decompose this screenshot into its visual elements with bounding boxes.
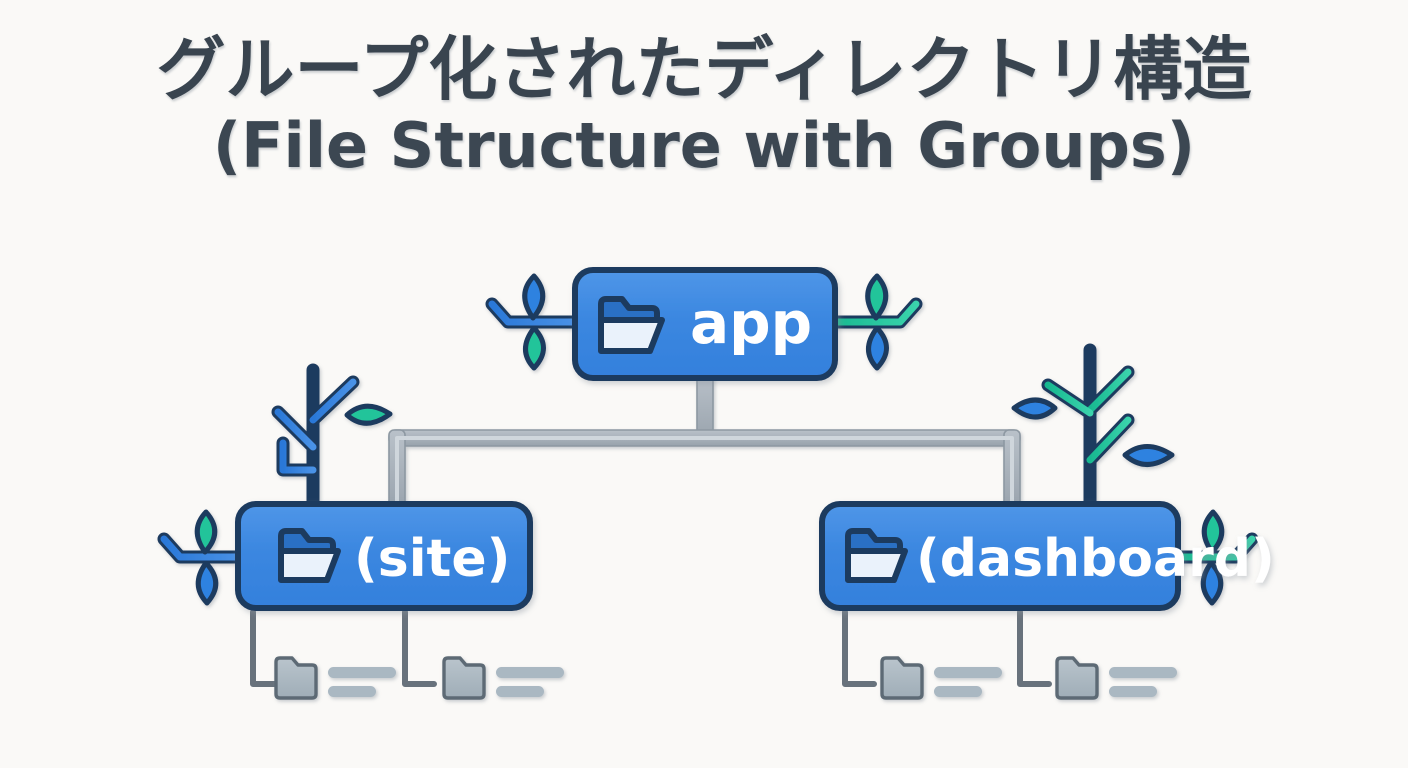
leaf-icon — [1014, 400, 1055, 417]
placeholder-bar — [934, 686, 982, 697]
placeholder-folder-icon — [882, 658, 922, 698]
node-site-label: (site) — [354, 529, 510, 589]
leaf-icon — [869, 328, 887, 368]
placeholder-bar — [496, 686, 544, 697]
node-site[interactable]: (site) — [238, 504, 530, 608]
leaf-icon — [197, 512, 215, 552]
node-dashboard-label: (dashboard) — [916, 529, 1275, 589]
file-structure-diagram: app (site) (dashboard) — [0, 0, 1408, 768]
tree-ornament-left — [278, 370, 390, 520]
placeholder-items — [276, 658, 1177, 698]
placeholder-bar — [496, 667, 564, 678]
connector-group — [389, 374, 1020, 512]
folder-icon — [848, 531, 905, 580]
stub-dashboard-2 — [1020, 612, 1049, 684]
connector-inner-highlight — [397, 438, 1012, 508]
placeholder-bar — [328, 686, 376, 697]
leaf-icon — [526, 328, 544, 368]
node-app[interactable]: app — [575, 270, 835, 378]
placeholder-bar — [934, 667, 1002, 678]
diagram-canvas: app (site) (dashboard) グループ化されたディレクトリ構造 … — [0, 0, 1408, 768]
branch-ornament-site-left — [164, 512, 242, 603]
placeholder-bar — [1109, 667, 1177, 678]
placeholder-folder-icon — [276, 658, 316, 698]
stub-dashboard-1 — [845, 612, 874, 684]
folder-icon — [601, 299, 662, 351]
branch-ornament-app-right — [832, 276, 916, 368]
branch-ornament-app-left — [492, 276, 578, 368]
placeholder-bar — [1109, 686, 1157, 697]
node-app-label: app — [690, 289, 812, 357]
stub-site-2 — [405, 612, 434, 684]
placeholder-folder-icon — [1057, 658, 1097, 698]
leaf-icon — [868, 276, 886, 318]
folder-icon — [281, 531, 338, 580]
placeholder-folder-icon — [444, 658, 484, 698]
leaf-icon — [347, 406, 390, 423]
leaf-icon — [1125, 447, 1172, 465]
leaf-icon — [525, 276, 543, 318]
placeholder-bar — [328, 667, 396, 678]
tree-ornament-right — [1014, 350, 1172, 510]
leaf-icon — [198, 563, 216, 603]
